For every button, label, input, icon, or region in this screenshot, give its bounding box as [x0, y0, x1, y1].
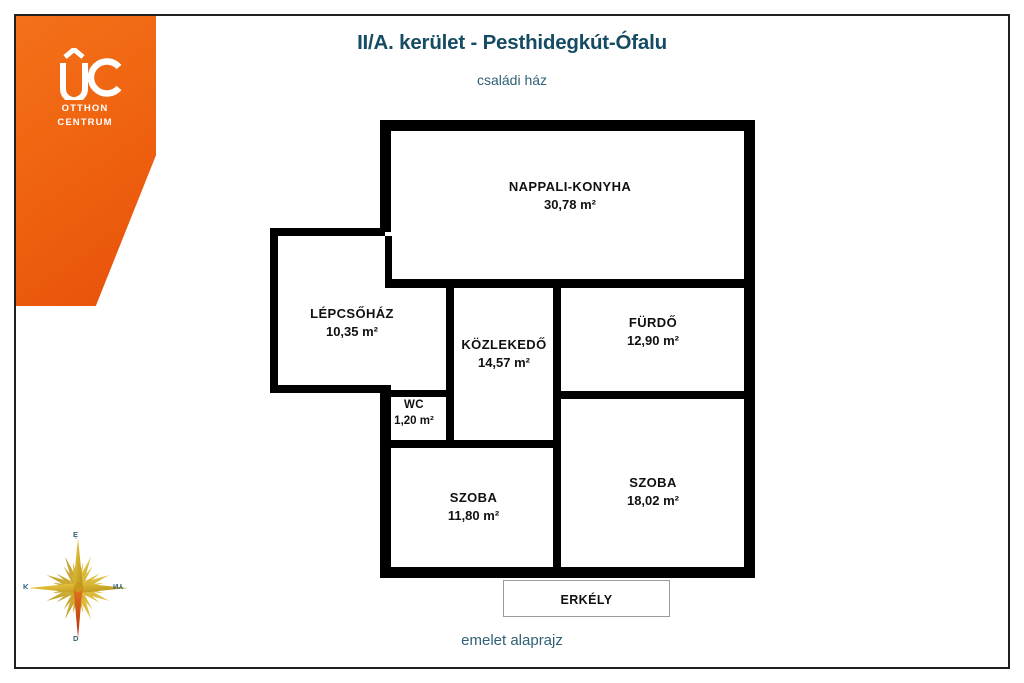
compass-label-south: D	[73, 634, 78, 643]
room-name: NAPPALI-KONYHA	[420, 178, 720, 196]
room-label-erkely: ERKÉLY	[503, 592, 670, 609]
room-label-furdo: FÜRDŐ 12,90 m²	[561, 314, 745, 350]
room-label-kozlekedo: KÖZLEKEDŐ 14,57 m²	[454, 336, 554, 372]
room-label-wc: WC 1,20 m²	[380, 398, 448, 430]
compass-rose-icon: É K D NY	[18, 528, 142, 648]
floorplan-page: OTTHON CENTRUM II/A. kerület - Pesthideg…	[0, 0, 1024, 683]
compass-label-north: É	[73, 530, 78, 539]
room-area: 10,35 m²	[258, 323, 446, 341]
room-label-lepcsohaz: LÉPCSŐHÁZ 10,35 m²	[258, 305, 446, 341]
room-label-nappali-konyha: NAPPALI-KONYHA 30,78 m²	[420, 178, 720, 214]
room-name: LÉPCSŐHÁZ	[258, 305, 446, 323]
room-name: SZOBA	[561, 474, 745, 492]
room-area: 12,90 m²	[561, 332, 745, 350]
room-name: FÜRDŐ	[561, 314, 745, 332]
compass-label-west: NY	[113, 582, 123, 591]
room-name: WC	[380, 398, 448, 414]
compass-label-east: K	[23, 582, 28, 591]
room-area: 11,80 m²	[391, 507, 556, 525]
room-area: 18,02 m²	[561, 492, 745, 510]
room-area: 30,78 m²	[420, 196, 720, 214]
room-name: KÖZLEKEDŐ	[454, 336, 554, 354]
room-area: 14,57 m²	[454, 354, 554, 372]
room-name: SZOBA	[391, 489, 556, 507]
room-label-szoba-1180: SZOBA 11,80 m²	[391, 489, 556, 525]
room-label-szoba-1802: SZOBA 18,02 m²	[561, 474, 745, 510]
room-area: 1,20 m²	[380, 414, 448, 430]
room-name: ERKÉLY	[503, 592, 670, 609]
